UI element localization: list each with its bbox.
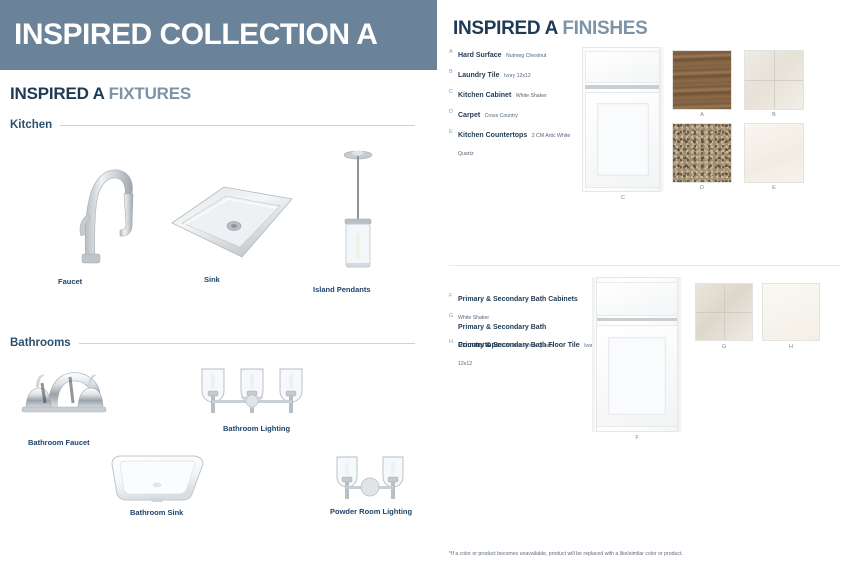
kitchen-countertop-swatch [744, 123, 804, 183]
legend-name-d: Carpet [458, 112, 480, 119]
legend-letter-h: H [449, 334, 458, 345]
swatch-letter-g: G [695, 344, 753, 350]
swatch-letter-e: E [744, 185, 804, 191]
legend-letter-e: E [449, 124, 458, 135]
legend-name-a: Hard Surface [458, 52, 502, 59]
kitchen-sink-icon [168, 185, 296, 265]
subsection-kitchen-rule [60, 125, 415, 126]
finishes-heading-light: FINISHES [562, 18, 647, 39]
cabinet-letter-c: C [582, 195, 664, 201]
cabinet-letter-f: F [592, 435, 682, 441]
bath-faucet-icon [12, 363, 112, 423]
legend-item-d: D Carpet Cross Country [449, 104, 579, 122]
legend-item-a: A Hard Surface Nutmeg Chestnut [449, 44, 579, 62]
subsection-bathrooms-label: Bathrooms [10, 337, 79, 349]
fixture-label-sink: Sink [204, 275, 220, 284]
fixture-label-faucet: Faucet [58, 277, 82, 286]
legend-letter-g: G [449, 308, 458, 319]
laundry-tile-swatch [744, 50, 804, 110]
bath-cabinet-door-image [592, 277, 682, 432]
pendant-light-icon [335, 145, 381, 275]
swatch-letter-a: A [672, 112, 732, 118]
legend-sub-c: White Shaker [516, 93, 547, 99]
legend-item-h: H Primary & Secondary Bath Floor Tile Iv… [449, 334, 599, 370]
legend-letter-d: D [449, 104, 458, 115]
swatch-letter-b: B [744, 112, 804, 118]
fixture-label-bathroom-faucet: Bathroom Faucet [28, 438, 90, 447]
finishes-heading-strong: INSPIRED A [453, 18, 557, 39]
legend-item-e: E Kitchen Countertops 2 CM Artic White Q… [449, 124, 584, 160]
legend-letter-a: A [449, 44, 458, 55]
fixture-label-island-pendants: Island Pendants [313, 285, 371, 294]
collection-board-page: INSPIRED COLLECTION A INSPIRED A FIXTURE… [0, 0, 853, 569]
subsection-kitchen: Kitchen [10, 119, 415, 131]
vanity-light-2-icon [333, 455, 407, 505]
fixture-label-bathroom-lighting: Bathroom Lighting [223, 424, 290, 433]
kitchen-faucet-icon [62, 150, 142, 265]
kitchen-cabinet-door-image [582, 47, 664, 192]
fixtures-column: INSPIRED COLLECTION A INSPIRED A FIXTURE… [0, 0, 437, 569]
legend-sub-b: Ivory 12x12 [504, 73, 531, 79]
page-title-bar: INSPIRED COLLECTION A [0, 0, 437, 70]
availability-footnote: *If a color or product becomes unavailab… [449, 551, 683, 557]
legend-letter-c: C [449, 84, 458, 95]
subsection-bathrooms: Bathrooms [10, 337, 415, 349]
fixtures-section-heading: INSPIRED A FIXTURES [10, 84, 191, 104]
hard-surface-swatch [672, 50, 732, 110]
legend-name-f: Primary & Secondary Bath Cabinets [458, 296, 578, 303]
swatch-letter-d: D [672, 185, 732, 191]
bath-sink-icon [104, 452, 210, 504]
fixtures-heading-strong: INSPIRED A [10, 84, 104, 103]
legend-name-h: Primary & Secondary Bath Floor Tile [458, 342, 580, 349]
subsection-bathrooms-rule [79, 343, 415, 344]
swatch-letter-h: H [762, 344, 820, 350]
legend-item-c: C Kitchen Cabinet White Shaker [449, 84, 579, 102]
subsection-kitchen-label: Kitchen [10, 119, 60, 131]
legend-item-b: B Laundry Tile Ivory 12x12 [449, 64, 579, 82]
legend-name-c: Kitchen Cabinet [458, 92, 511, 99]
legend-sub-d: Cross Country [485, 113, 518, 119]
legend-name-b: Laundry Tile [458, 72, 500, 79]
fixture-label-powder-room-lighting: Powder Room Lighting [330, 507, 412, 516]
bath-floor-tile-swatch [762, 283, 820, 341]
page-title: INSPIRED COLLECTION A [0, 20, 377, 50]
carpet-swatch [672, 123, 732, 183]
legend-name-e: Kitchen Countertops [458, 132, 527, 139]
bath-countertop-swatch [695, 283, 753, 341]
finishes-column: INSPIRED A FINISHES A Hard Surface Nutme… [437, 0, 853, 569]
finishes-section-heading: INSPIRED A FINISHES [453, 18, 648, 40]
legend-letter-b: B [449, 64, 458, 75]
finishes-group-divider [449, 265, 841, 266]
fixtures-heading-light: FIXTURES [109, 84, 191, 103]
legend-letter-f: F [449, 288, 458, 299]
fixture-label-bathroom-sink: Bathroom Sink [130, 508, 183, 517]
vanity-light-3-icon [196, 367, 308, 419]
legend-sub-a: Nutmeg Chestnut [506, 53, 546, 59]
